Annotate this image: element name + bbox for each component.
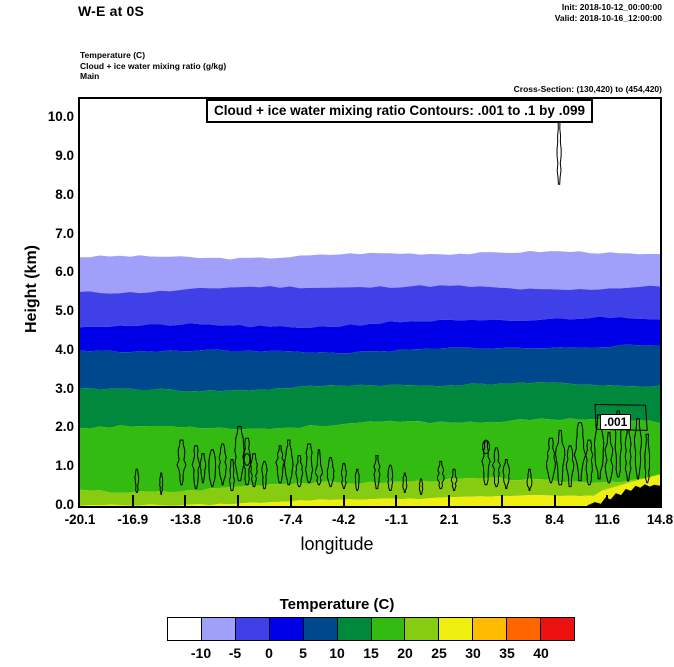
y-tick-label: 7.0 bbox=[30, 226, 74, 241]
temperature-band bbox=[80, 251, 660, 294]
plot-fill-area bbox=[80, 99, 660, 506]
x-tick-label: -20.1 bbox=[50, 512, 110, 527]
x-tick-mark bbox=[343, 495, 345, 506]
x-axis-title: longitude bbox=[0, 534, 674, 555]
x-tick-label: 11.6 bbox=[577, 512, 637, 527]
temperature-band bbox=[80, 99, 660, 260]
x-tick-label: -4.2 bbox=[314, 512, 374, 527]
temperature-colorbar bbox=[167, 617, 575, 641]
variable-line-domain: Main bbox=[80, 71, 226, 82]
colorbar-cell bbox=[473, 618, 507, 640]
y-tick-label: 10.0 bbox=[30, 109, 74, 124]
colorbar-title: Temperature (C) bbox=[0, 596, 674, 613]
cross-section-label: Cross-Section: (130,420) to (454,420) bbox=[514, 84, 662, 94]
x-tick-mark bbox=[290, 495, 292, 506]
colorbar-cell bbox=[338, 618, 372, 640]
x-tick-mark bbox=[501, 495, 503, 506]
y-tick-label: 6.0 bbox=[30, 264, 74, 279]
colorbar-cell bbox=[405, 618, 439, 640]
colorbar-tick-label: 40 bbox=[521, 645, 561, 661]
x-tick-mark bbox=[237, 495, 239, 506]
x-tick-mark bbox=[448, 495, 450, 506]
colorbar-cell bbox=[236, 618, 270, 640]
y-tick-label: 9.0 bbox=[30, 148, 74, 163]
variable-line-mixing-ratio: Cloud + ice water mixing ratio (g/kg) bbox=[80, 61, 226, 72]
x-tick-mark bbox=[395, 495, 397, 506]
colorbar-cell bbox=[304, 618, 338, 640]
x-tick-label: 8.4 bbox=[525, 512, 585, 527]
variable-line-temperature: Temperature (C) bbox=[80, 50, 226, 61]
y-tick-label: 8.0 bbox=[30, 187, 74, 202]
page-title: W-E at 0S bbox=[78, 3, 144, 19]
colorbar-cell bbox=[507, 618, 541, 640]
x-tick-label: -1.1 bbox=[366, 512, 426, 527]
contour-key-box: Cloud + ice water mixing ratio Contours:… bbox=[206, 99, 593, 123]
x-tick-label: -10.6 bbox=[208, 512, 268, 527]
y-axis-labels: 0.01.02.03.04.05.06.07.08.09.010.0 bbox=[22, 97, 74, 508]
contour-inline-label: .001 bbox=[600, 414, 631, 430]
colorbar-cell bbox=[541, 618, 574, 640]
y-tick-label: 4.0 bbox=[30, 342, 74, 357]
x-tick-label: -16.9 bbox=[103, 512, 163, 527]
contour-fill-svg bbox=[80, 99, 660, 506]
y-tick-label: 1.0 bbox=[30, 458, 74, 473]
y-tick-label: 2.0 bbox=[30, 419, 74, 434]
y-tick-label: 5.0 bbox=[30, 303, 74, 318]
x-tick-label: 5.3 bbox=[472, 512, 532, 527]
x-tick-label: -13.8 bbox=[155, 512, 215, 527]
x-tick-mark bbox=[606, 495, 608, 506]
y-tick-label: 0.0 bbox=[30, 497, 74, 512]
x-tick-mark bbox=[184, 495, 186, 506]
x-tick-label: 2.1 bbox=[419, 512, 479, 527]
colorbar-cell bbox=[439, 618, 473, 640]
colorbar-cell bbox=[372, 618, 406, 640]
init-time-label: Init: 2018-10-12_00:00:00 bbox=[555, 2, 662, 13]
y-tick-label: 3.0 bbox=[30, 381, 74, 396]
x-tick-mark bbox=[554, 495, 556, 506]
cross-section-plot bbox=[78, 97, 662, 508]
x-tick-label: -7.4 bbox=[261, 512, 321, 527]
valid-time-label: Valid: 2018-10-16_12:00:00 bbox=[555, 13, 662, 24]
run-time-block: Init: 2018-10-12_00:00:00 Valid: 2018-10… bbox=[555, 2, 662, 24]
x-tick-label: 14.8 bbox=[630, 512, 674, 527]
x-tick-mark bbox=[132, 495, 134, 506]
colorbar-cell bbox=[168, 618, 202, 640]
colorbar-cell bbox=[202, 618, 236, 640]
variable-description-block: Temperature (C) Cloud + ice water mixing… bbox=[80, 50, 226, 82]
colorbar-cell bbox=[270, 618, 304, 640]
